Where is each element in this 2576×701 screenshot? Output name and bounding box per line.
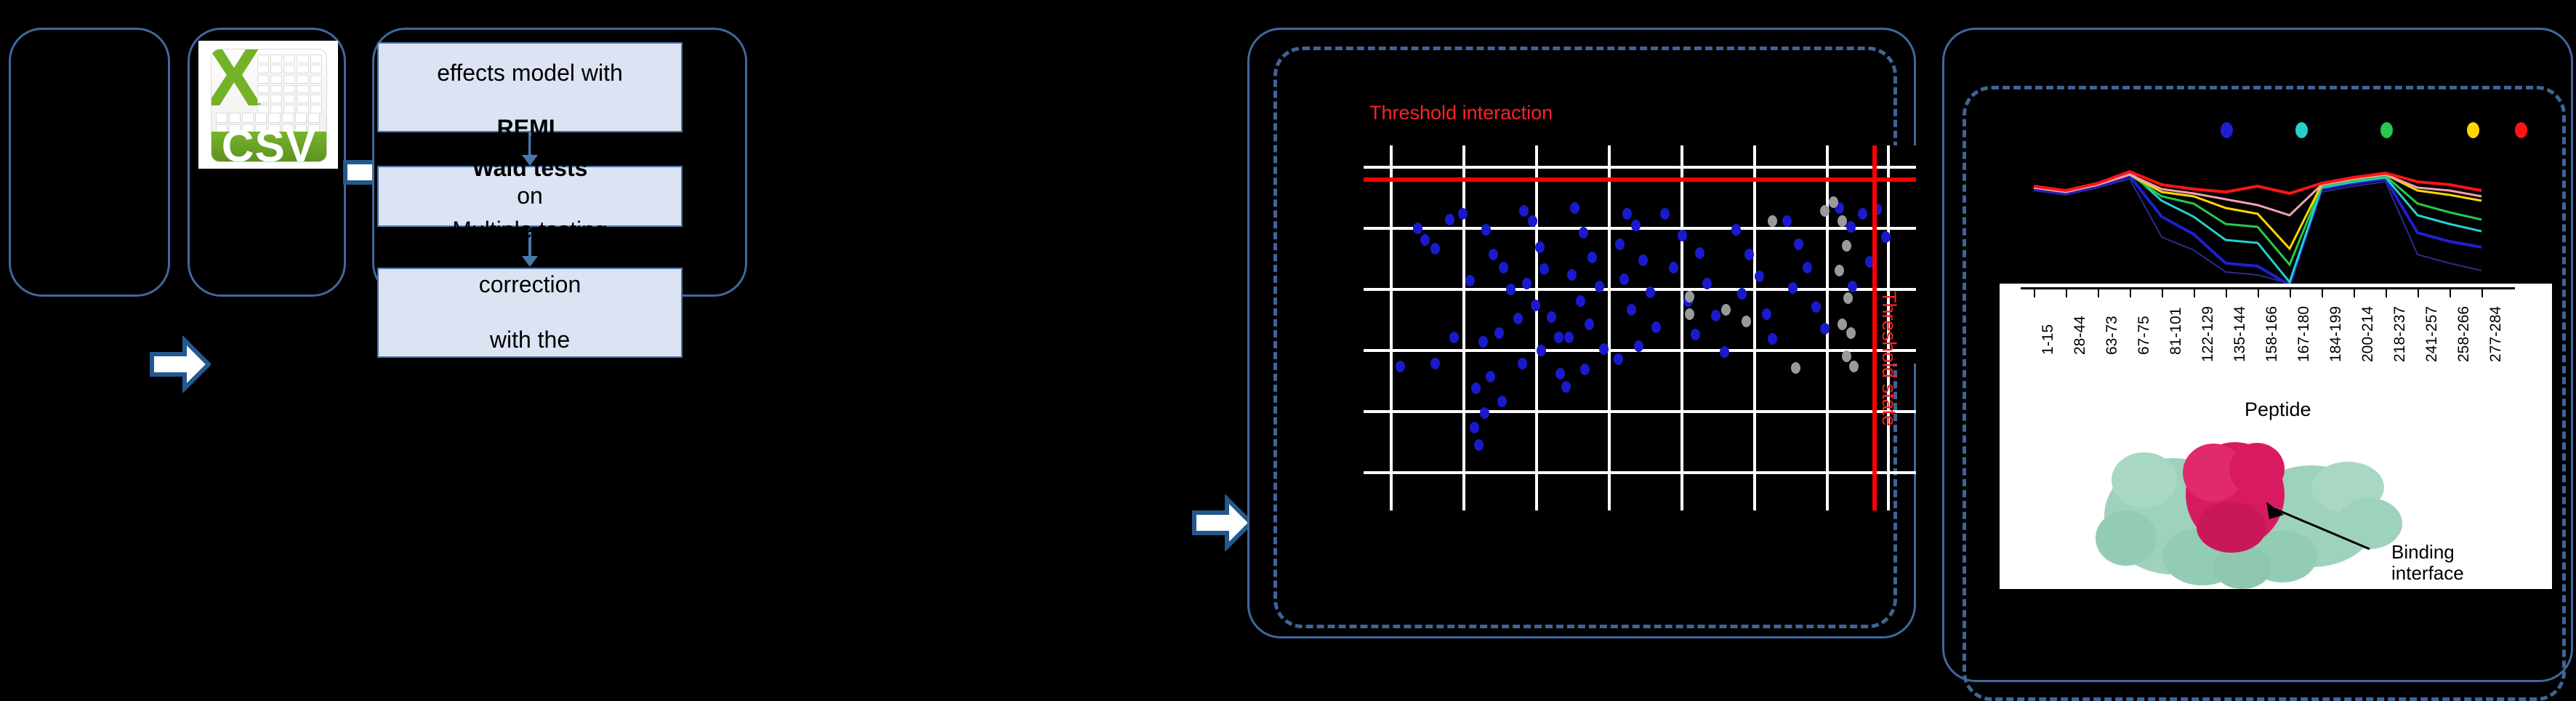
scatter-point	[1489, 249, 1498, 260]
scatter-point-grey	[1842, 350, 1851, 362]
scatter-point	[1537, 345, 1546, 356]
scatter-point	[1660, 208, 1670, 220]
scatter-point-grey	[1849, 361, 1859, 372]
scatter-point-grey	[1685, 308, 1694, 320]
scatter-point	[1580, 364, 1590, 375]
scatter-point	[1564, 332, 1574, 343]
arrow-panel3-to-panel4	[1192, 494, 1253, 551]
scatter-point-grey	[1791, 362, 1800, 374]
scatter-point	[1539, 263, 1549, 275]
scatter-point	[1881, 231, 1891, 243]
peptide-tick-label: 167-180	[2295, 306, 2313, 362]
scatter-point	[1634, 340, 1643, 352]
gridline-v	[1608, 145, 1611, 510]
gridline-h	[1364, 166, 1916, 169]
scatter-point	[1731, 224, 1741, 236]
csv-footer-band: CSV	[212, 132, 326, 162]
binding-interface-label: Binding interface	[2391, 542, 2464, 584]
scatter-point	[1449, 332, 1459, 343]
flow-step-multiple-testing[interactable]: Multiple testing correction with the BH …	[377, 268, 683, 358]
csv-label: CSV	[222, 121, 316, 162]
peptide-tick-label: 200-214	[2359, 306, 2377, 362]
scatter-point	[1481, 224, 1491, 236]
scatter-point	[1711, 310, 1720, 321]
scatter-point	[1595, 281, 1604, 292]
gridline-v	[1753, 145, 1756, 510]
scatter-point	[1554, 332, 1563, 343]
bh-pre: with the	[448, 327, 611, 354]
scatter-point	[1858, 208, 1867, 220]
legend-dot-green	[2380, 122, 2393, 138]
scatter-point-grey	[1842, 240, 1851, 252]
scatter-point	[1794, 239, 1803, 250]
panel-input-data	[9, 28, 170, 297]
scatter-point	[1803, 262, 1812, 273]
scatter-point	[1486, 371, 1495, 382]
scatter-point	[1678, 230, 1687, 241]
scatter-point-grey	[1685, 291, 1694, 303]
legend-dot-cyan	[2295, 122, 2308, 138]
scatter-point	[1430, 243, 1440, 255]
scatter-point	[1744, 249, 1754, 260]
peptide-tick-label: 277-284	[2487, 306, 2505, 362]
scatter-point	[1614, 353, 1623, 365]
scatter-point	[1518, 358, 1527, 369]
scatter-point	[1528, 215, 1537, 227]
scatter-point	[1768, 333, 1777, 345]
scatter-point	[1555, 368, 1565, 380]
scatter-point-grey	[1835, 265, 1844, 276]
scatter-point	[1695, 247, 1704, 259]
scatter-point-grey	[1838, 215, 1847, 227]
y-axis-tick-label: 0.0	[2000, 263, 2031, 288]
peptide-tick-label: 184-199	[2327, 306, 2345, 362]
scatter-point	[1599, 343, 1609, 355]
scatter-point	[1497, 396, 1507, 407]
scatter-point	[1669, 262, 1678, 273]
scatter-point	[1627, 304, 1636, 316]
threshold-state-line	[1872, 145, 1877, 510]
scatter-point	[1522, 278, 1531, 289]
peptide-tick-label: 258-266	[2455, 306, 2473, 362]
scatter-point-grey	[1721, 304, 1731, 316]
scatter-point	[1547, 311, 1556, 323]
scatter-point	[1619, 273, 1629, 285]
scatter-point	[1646, 287, 1655, 298]
wald-post: on	[412, 183, 647, 210]
peptide-tick-label: 63-73	[2104, 316, 2121, 355]
peptide-tick-label: 241-257	[2423, 306, 2441, 362]
scatter-point	[1576, 295, 1585, 307]
scatter-point	[1465, 275, 1475, 287]
scatter-point	[1579, 227, 1588, 239]
scatter-point-grey	[1846, 327, 1856, 339]
scatter-point	[1471, 382, 1481, 394]
csv-grid-top	[257, 54, 323, 115]
peptide-tick-label: 28-44	[2072, 316, 2089, 355]
peptide-line-chart	[2021, 153, 2515, 287]
gridline-v	[1535, 145, 1538, 510]
series-line-1	[2034, 172, 2482, 193]
binding-interface-line2: interface	[2391, 562, 2464, 584]
csv-card: X CSV	[211, 49, 326, 163]
scatter-point	[1480, 407, 1489, 419]
fit-model-line2: effects model with	[432, 60, 627, 87]
scatter-point	[1702, 278, 1712, 289]
scatter-point	[1478, 336, 1488, 348]
scatter-point	[1720, 346, 1729, 358]
peptide-tick-label: 158-166	[2263, 306, 2281, 362]
scatter-point	[1494, 327, 1504, 339]
scatter-point	[1848, 281, 1857, 292]
scatter-point	[1737, 288, 1747, 300]
bh-line2: correction	[448, 271, 611, 299]
scatter-point	[1420, 234, 1430, 246]
bh-post: procedure	[448, 381, 611, 409]
scatter-point	[1587, 252, 1597, 263]
gridline-v	[1681, 145, 1683, 510]
scatter-point-grey	[1838, 319, 1847, 330]
peptide-tick-label: 122-129	[2199, 306, 2217, 362]
gridline-h	[1364, 288, 1916, 291]
wald-bold: Wald tests	[412, 155, 647, 183]
scatter-point-grey	[1829, 196, 1838, 208]
excel-x-glyph: X	[215, 50, 253, 102]
scatter-point	[1811, 301, 1821, 313]
threshold-interaction-line	[1364, 177, 1916, 182]
scatter-point	[1782, 215, 1792, 227]
scatter-point	[1396, 361, 1405, 372]
peptide-tick-label: 135-144	[2231, 306, 2249, 362]
scatter-point	[1846, 221, 1856, 233]
csv-file-icon: X CSV	[198, 41, 338, 169]
bh-bold: BH	[448, 354, 611, 382]
wald-pre: Apply	[412, 128, 647, 156]
fit-model-line1: Fit a linear mixed-	[432, 5, 627, 33]
scatter-point-grey	[1768, 215, 1777, 227]
binding-interface-line1: Binding	[2391, 541, 2455, 563]
gridline-v	[1390, 145, 1393, 510]
scatter-point	[1638, 255, 1648, 266]
scatter-point	[1531, 300, 1540, 311]
scatter-point	[1570, 202, 1579, 214]
scatter-point	[1499, 262, 1508, 273]
legend-dot-yellow	[2467, 122, 2479, 138]
peptide-tick-label: 218-237	[2391, 306, 2409, 362]
legend-dot-blue	[2221, 122, 2233, 138]
scatter-point	[1585, 319, 1594, 330]
scatter-point	[1622, 208, 1632, 220]
scatter-point	[1788, 282, 1798, 294]
scatter-point	[1651, 321, 1661, 333]
scatter-point	[1691, 329, 1700, 340]
peptide-tick-label: 67-75	[2136, 316, 2153, 355]
scatter-point	[1519, 205, 1529, 217]
threshold-state-label: Threshold state	[1877, 291, 1900, 426]
scatter-point	[1561, 381, 1571, 393]
gridline-h	[1364, 471, 1916, 474]
arrow-panel1-to-panel2	[150, 336, 211, 393]
peptide-tick-label: 81-101	[2168, 308, 2185, 355]
scatter-point	[1513, 313, 1523, 324]
series-line-6	[2034, 179, 2482, 284]
scatter-point	[1470, 422, 1479, 433]
gridline-h	[1364, 410, 1916, 413]
scatter-point	[1820, 323, 1830, 335]
scatter-point-grey	[1742, 316, 1751, 327]
bh-line1: Multiple testing	[448, 217, 611, 244]
flow-step-fit-model[interactable]: Fit a linear mixed- effects model with R…	[377, 42, 683, 132]
scatter-plot-area	[1364, 145, 1916, 364]
x-axis-title: Peptide	[2245, 398, 2311, 421]
threshold-interaction-label: Threshold interaction	[1369, 102, 1553, 124]
scatter-point	[1567, 269, 1577, 281]
series-line-5	[2034, 176, 2482, 285]
scatter-point	[1474, 439, 1484, 451]
scatter-point	[1762, 308, 1771, 320]
scatter-point	[1535, 241, 1545, 253]
legend-dot-red	[2515, 122, 2527, 138]
scatter-point	[1631, 220, 1641, 231]
chart-series-group	[2034, 172, 2482, 285]
scatter-point	[1615, 239, 1625, 250]
scatter-point	[1413, 223, 1422, 234]
scatter-point	[1458, 208, 1468, 220]
scatter-point	[1506, 284, 1516, 295]
scatter-point-grey	[1820, 205, 1830, 217]
gridline-v	[1462, 145, 1465, 510]
x-axis-ticks	[2021, 287, 2515, 297]
scatter-point	[1445, 214, 1454, 225]
peptide-tick-label: 1-15	[2040, 324, 2057, 355]
scatter-point	[1430, 358, 1440, 369]
scatter-point-grey	[1843, 292, 1853, 304]
scatter-point	[1755, 271, 1764, 282]
protein-structure-figure	[2057, 429, 2435, 596]
